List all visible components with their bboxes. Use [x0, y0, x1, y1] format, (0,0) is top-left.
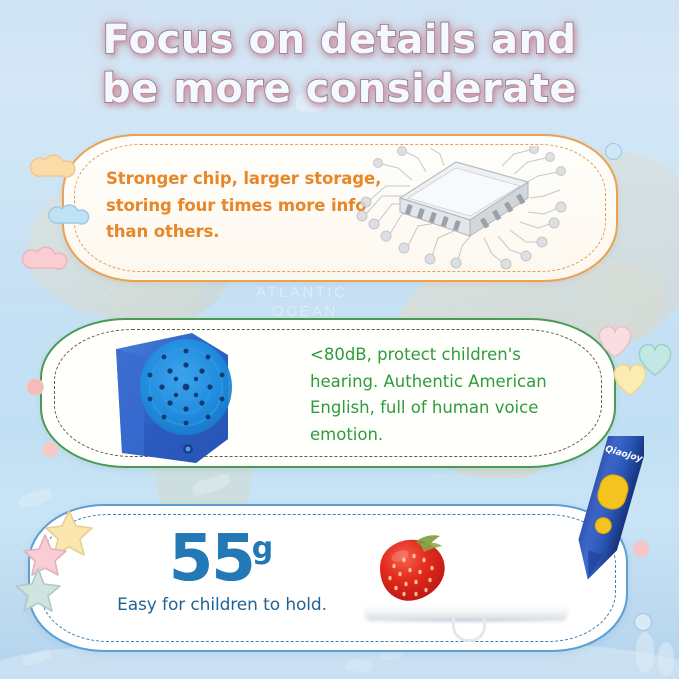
whale-silhouette-1 [17, 488, 53, 509]
border-dot-blue-panel-chip [605, 143, 622, 160]
panel-sound-text-line3: English, full of human voice [310, 395, 610, 422]
page-title-line1: Focus on details and [0, 16, 679, 65]
weight-caption: Easy for children to hold. [92, 595, 352, 615]
map-label-saudi-arabia: SAUDI ARABIA [586, 310, 628, 316]
strawberry-on-scale-illustration [366, 550, 576, 646]
map-label-chad: CHAD [552, 302, 569, 308]
map-label-mali: MALI [438, 306, 452, 312]
map-label-libya: LIBYA [540, 293, 557, 299]
map-label-mexico: MEXICO [99, 293, 122, 299]
panel-sound-text-line2: hearing. Authentic American [310, 369, 610, 396]
map-label-algeria: ALGERIA [468, 292, 494, 298]
border-dot-blue-panel-weight [634, 613, 652, 631]
microchip-illustration [352, 146, 567, 274]
weight-unit: g [252, 531, 273, 566]
map-label-atlantic-ocean-line1: ATLANTIC [256, 284, 347, 301]
panel-sound-text-line4: emotion. [310, 422, 610, 449]
landmass-arabia [574, 262, 664, 342]
speaker-illustration [100, 327, 235, 467]
map-label-niger: NIGER [516, 308, 535, 314]
penguin-silhouette-1 [636, 632, 654, 672]
weight-block: 55g Easy for children to hold. [92, 528, 352, 615]
penguin-silhouette-2 [658, 642, 674, 676]
border-dot-pink-upper [26, 378, 44, 396]
map-label-egypt: EGYPT [580, 285, 600, 291]
reading-pen-illustration: Qiaojoy [568, 436, 644, 596]
page-title-line2: be more considerate [0, 65, 679, 114]
weight-value: 55 [169, 528, 254, 591]
strawberry-icon [370, 534, 456, 608]
scale-stem [452, 616, 486, 642]
panel-sound-text-line1: <80dB, protect children's [310, 342, 610, 369]
panel-sound-text: <80dB, protect children's hearing. Authe… [310, 342, 610, 449]
page-title: Focus on details and be more considerate [0, 16, 679, 114]
map-label-namibia: NAMIBIA [430, 474, 455, 480]
border-dot-pink-lower [42, 441, 59, 458]
infographic-canvas: ATLANTIC OCEAN MEXICO ALGERIA LIBYA SAUD… [0, 0, 679, 679]
